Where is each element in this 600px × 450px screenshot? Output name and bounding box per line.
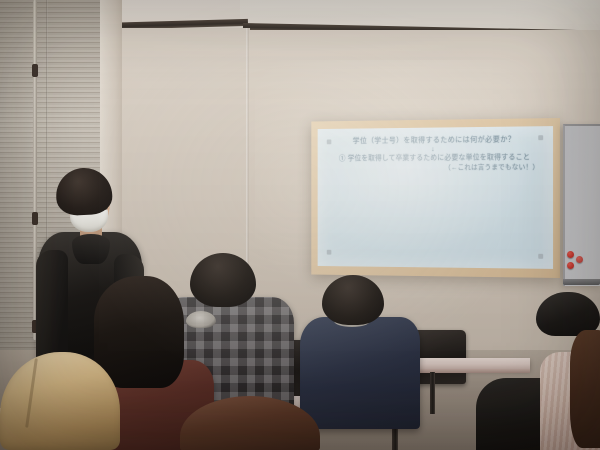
- student-hair: [570, 330, 600, 448]
- student-hair: [180, 396, 320, 450]
- presenter-collar: [72, 234, 110, 264]
- classroom-photo: 学位（学士号）を取得するためには何が必要か？ ↓ ① 学位を取得して卒業するため…: [0, 0, 600, 450]
- slide-line-4: （←これは言うまでもない！）: [318, 163, 553, 174]
- student-hair: [0, 352, 120, 450]
- projection-screen-surface: 学位（学士号）を取得するためには何が必要か？ ↓ ① 学位を取得して卒業するため…: [318, 126, 553, 269]
- desk: [412, 358, 530, 369]
- magnet-icon: [576, 256, 583, 263]
- screen-corner-marker-top-left: [327, 139, 332, 144]
- magnet-icon: [567, 262, 574, 269]
- whiteboard-marker-tray: [563, 279, 600, 285]
- slide-text-block: 学位（学士号）を取得するためには何が必要か？ ↓ ① 学位を取得して卒業するため…: [318, 134, 553, 174]
- cord-knob-upper: [32, 64, 38, 77]
- screen-corner-marker-bottom-left: [327, 250, 332, 255]
- presenter-hair: [55, 167, 113, 217]
- screen-corner-marker-bottom-right: [538, 254, 543, 259]
- magnet-icon: [567, 251, 574, 258]
- projection-screen-frame: 学位（学士号）を取得するためには何が必要か？ ↓ ① 学位を取得して卒業するため…: [311, 118, 560, 278]
- student-blonde: [0, 352, 120, 450]
- student-pink-knit: [540, 330, 600, 450]
- screen-corner-marker-top-right: [538, 135, 543, 140]
- student-hair: [322, 275, 384, 325]
- desk-leg: [430, 372, 435, 414]
- student-front-center: [180, 396, 320, 450]
